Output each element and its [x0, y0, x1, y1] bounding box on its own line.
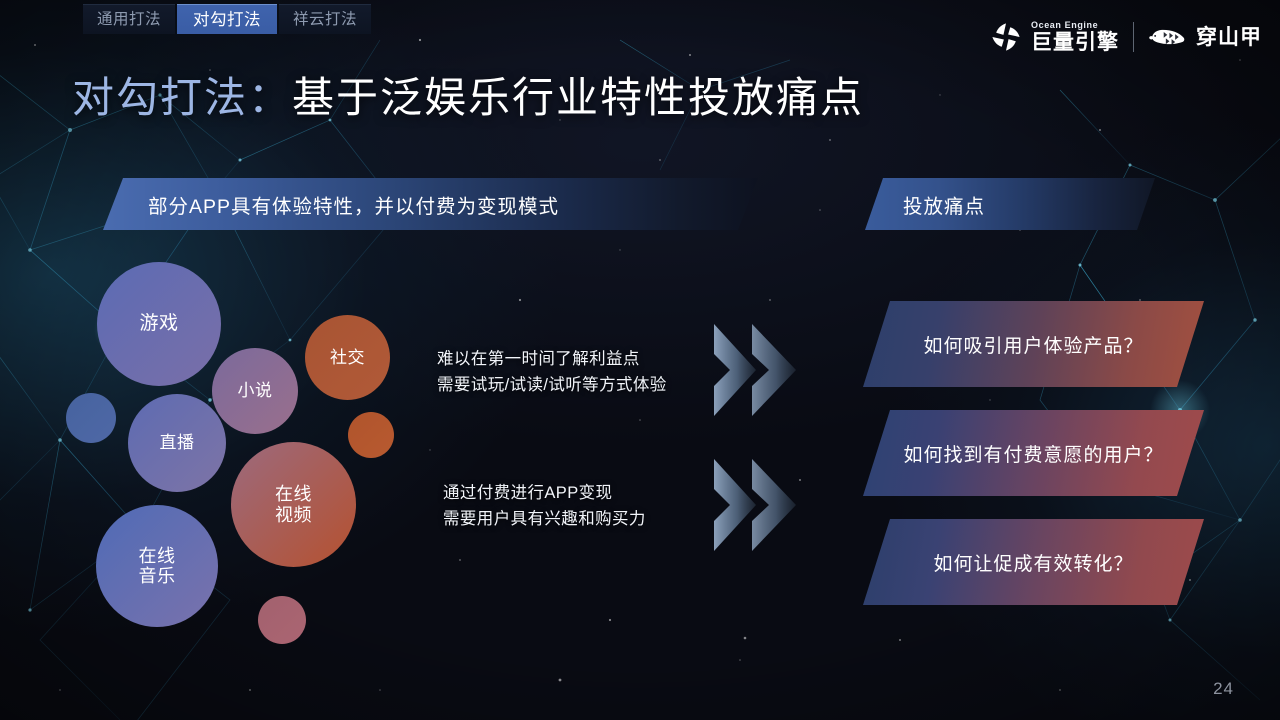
bubble-label: 游戏 [139, 313, 178, 334]
page-title-prefix: 对勾打法： [72, 74, 292, 121]
bubble-decorative-7 [348, 412, 394, 458]
pain-point-label-1: 如何吸引用户体验产品？ [923, 331, 1143, 358]
flow-text-line2: 需要试玩/试读/试听等方式体验 [437, 373, 667, 399]
ocean-engine-logo: Ocean Engine 巨量引擎 [989, 20, 1119, 54]
bubble-label: 小说 [238, 381, 273, 400]
logo-bar: Ocean Engine 巨量引擎 穿山甲 [989, 20, 1262, 54]
tab-xiangyun[interactable]: 祥云打法 [279, 4, 371, 34]
pain-point-card-1[interactable]: 如何吸引用户体验产品？ [863, 301, 1204, 387]
bubble-2: 社交 [305, 315, 390, 400]
pangolin-logo: 穿山甲 [1148, 23, 1262, 51]
tab-duigou[interactable]: 对勾打法 [177, 4, 277, 34]
bubble-label: 社交 [330, 348, 365, 367]
pain-point-card-2[interactable]: 如何找到有付费意愿的用户？ [863, 410, 1204, 496]
bubble-label: 在线音乐 [139, 546, 176, 586]
tab-tongyong[interactable]: 通用打法 [83, 4, 175, 34]
bubble-0: 游戏 [97, 262, 221, 386]
flow-text-1: 难以在第一时间了解利益点需要试玩/试读/试听等方式体验 [437, 347, 667, 398]
flow-text-2: 通过付费进行APP变现需要用户具有兴趣和购买力 [443, 481, 646, 532]
flow-text-line2: 需要用户具有兴趣和购买力 [443, 507, 646, 533]
bubble-1: 小说 [212, 348, 298, 434]
pain-point-label-2: 如何找到有付费意愿的用户？ [903, 440, 1163, 467]
bubble-decorative-6 [66, 393, 116, 443]
pangolin-cn: 穿山甲 [1196, 27, 1262, 48]
logo-divider [1133, 22, 1134, 52]
flow-text-line1: 难以在第一时间了解利益点 [437, 347, 667, 373]
pain-point-label-3: 如何让促成有效转化？ [933, 549, 1133, 576]
tab-bar: 通用打法 对勾打法 祥云打法 [83, 4, 371, 34]
bubble-decorative-8 [258, 596, 306, 644]
bubble-label: 直播 [160, 433, 195, 452]
bubble-5: 在线音乐 [96, 505, 218, 627]
banner-left-label: 部分APP具有体验特性，并以付费为变现模式 [148, 190, 559, 219]
page-title-main: 基于泛娱乐行业特性投放痛点 [292, 74, 864, 121]
bubble-4: 在线视频 [231, 442, 356, 567]
banner-right-label: 投放痛点 [903, 190, 985, 219]
chevron-arrow-icon-2 [712, 455, 804, 555]
banner-right: 投放痛点 [865, 178, 1155, 230]
page-title: 对勾打法：基于泛娱乐行业特性投放痛点 [72, 64, 864, 125]
flow-text-line1: 通过付费进行APP变现 [443, 481, 646, 507]
page-number: 24 [1213, 679, 1234, 699]
pangolin-icon [1148, 23, 1188, 51]
bubble-3: 直播 [128, 394, 226, 492]
ocean-engine-sub: Ocean Engine [1031, 21, 1119, 30]
ocean-engine-cn: 巨量引擎 [1031, 32, 1119, 53]
aperture-icon [989, 20, 1023, 54]
banner-left: 部分APP具有体验特性，并以付费为变现模式 [103, 178, 758, 230]
chevron-arrow-icon-1 [712, 320, 804, 420]
pain-point-card-3[interactable]: 如何让促成有效转化？ [863, 519, 1204, 605]
bubble-label: 在线视频 [275, 484, 312, 524]
